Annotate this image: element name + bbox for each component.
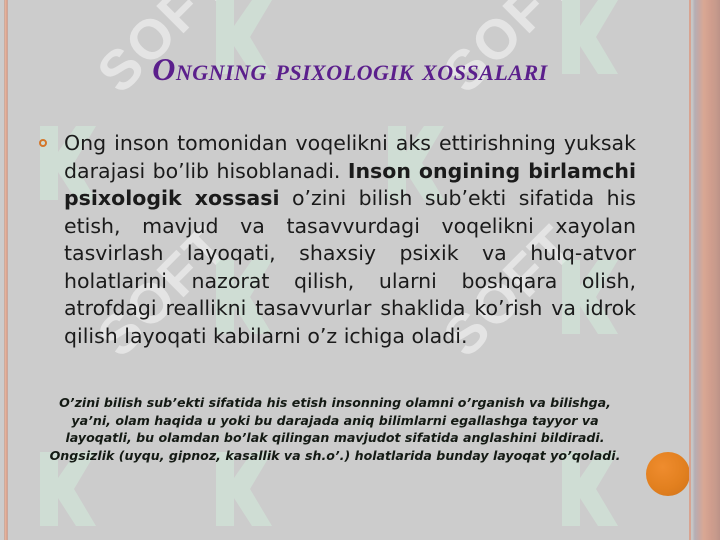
orange-circle-decoration — [646, 452, 690, 496]
note-line: O’zini bilish sub’ekti sifatida his etis… — [30, 394, 640, 412]
body-paragraph-block: Ong inson tomonidan voqelikni aks ettiri… — [36, 130, 636, 350]
left-edge-stripe — [4, 0, 8, 540]
slide-canvas: SOFT SOFT SOFT SOFT — [0, 0, 720, 540]
page-title: Ongning psixologik xossalari — [40, 52, 660, 87]
slide-content: Ongning psixologik xossalari Ong inson t… — [0, 0, 720, 540]
note-line: ya’ni, olam haqida u yoki bu darajada an… — [30, 412, 640, 430]
body-paragraph: Ong inson tomonidan voqelikni aks ettiri… — [64, 130, 636, 350]
right-edge-hairline — [689, 0, 691, 540]
note-line: layoqatli, bu olamdan bo’lak qilingan ma… — [30, 429, 640, 447]
right-edge-band — [690, 0, 720, 540]
note-block: O’zini bilish sub’ekti sifatida his etis… — [30, 394, 640, 464]
note-line: Ongsizlik (uyqu, gipnoz, kasallik va sh.… — [30, 447, 640, 465]
list-item: Ong inson tomonidan voqelikni aks ettiri… — [36, 130, 636, 350]
circle-outline-bullet-icon — [39, 139, 47, 147]
body-run-plain-2: o’zini bilish sub’ekti sifatida his etis… — [64, 186, 636, 348]
